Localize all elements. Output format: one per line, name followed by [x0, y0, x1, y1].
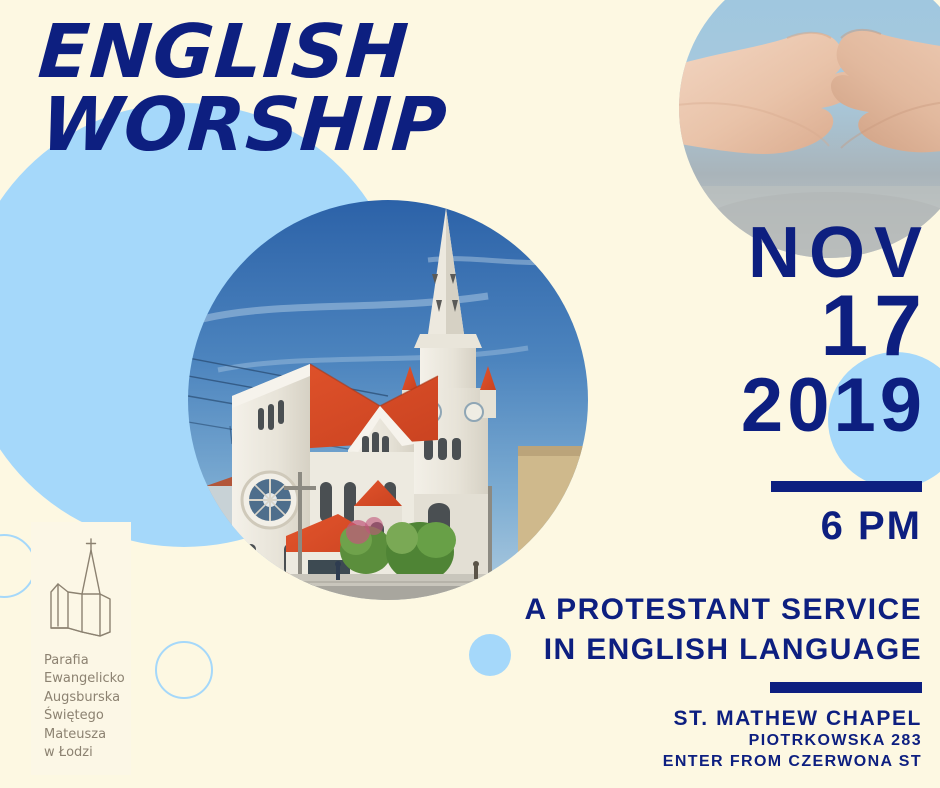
- page-title: ENGLISH WORSHIP: [31, 16, 461, 163]
- church-outline-icon: [44, 536, 118, 642]
- headline-line-2: WORSHIP: [31, 89, 456, 162]
- poster-canvas: ENGLISH WORSHIP: [0, 0, 940, 788]
- venue-entrance: ENTER FROM CZERWONA ST: [402, 752, 922, 773]
- divider-above-venue: [770, 682, 922, 693]
- service-description-line-1: A PROTESTANT SERVICE: [402, 590, 922, 630]
- date-day: 17: [602, 287, 928, 366]
- venue-info: ST. MATHEW CHAPEL PIOTRKOWSKA 283 ENTER …: [402, 706, 922, 773]
- service-description: A PROTESTANT SERVICE IN ENGLISH LANGUAGE: [402, 590, 922, 670]
- parish-logo-card: Parafia Ewangelicko Augsburska Świętego …: [31, 522, 131, 775]
- event-date: NOV 17 2019: [602, 222, 922, 443]
- venue-name: ST. MATHEW CHAPEL: [402, 706, 922, 731]
- divider-above-time: [771, 481, 922, 492]
- decorative-ring-middle: [155, 641, 213, 699]
- event-time: 6 PM: [602, 506, 922, 546]
- parish-name-line-6: w Łodzi: [44, 744, 131, 762]
- headline-line-1: ENGLISH: [36, 16, 461, 89]
- parish-name: Parafia Ewangelicko Augsburska Świętego …: [31, 652, 131, 763]
- parish-name-line-5: Mateusza: [44, 726, 131, 744]
- venue-address: PIOTRKOWSKA 283: [402, 731, 922, 752]
- service-description-line-2: IN ENGLISH LANGUAGE: [402, 630, 922, 670]
- parish-name-line-4: Świętego: [44, 707, 131, 725]
- parish-name-line-2: Ewangelicko: [44, 670, 131, 688]
- parish-name-line-1: Parafia: [44, 652, 131, 670]
- parish-name-line-3: Augsburska: [44, 689, 131, 707]
- date-year: 2019: [602, 370, 926, 442]
- date-month: NOV: [602, 222, 931, 285]
- church-photo: [188, 200, 588, 600]
